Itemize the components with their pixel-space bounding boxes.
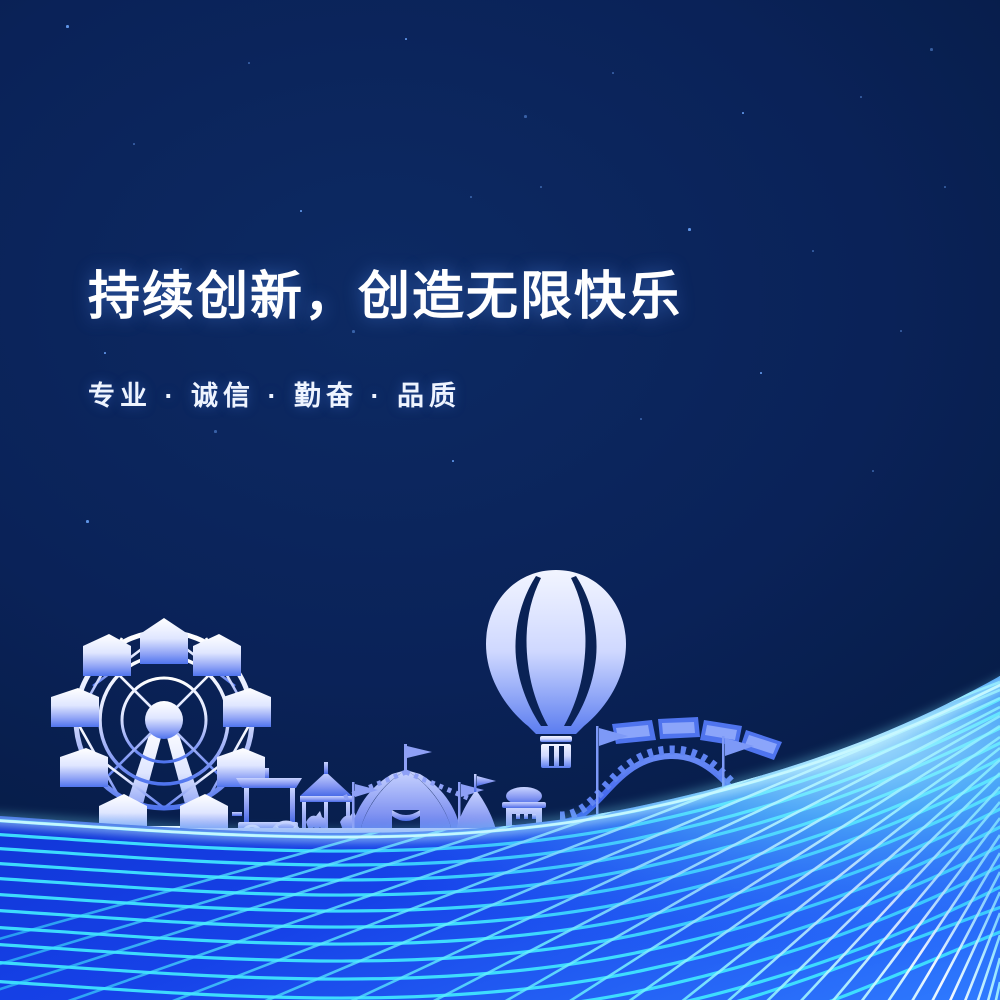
star-dot xyxy=(104,352,106,354)
star-dot xyxy=(860,96,862,98)
mesh-glow xyxy=(0,620,1000,1000)
star-dot xyxy=(133,143,135,145)
star-dot xyxy=(900,330,902,332)
star-dot xyxy=(214,430,217,433)
page-title: 持续创新，创造无限快乐 xyxy=(88,268,848,326)
star-dot xyxy=(944,186,946,188)
star-dot xyxy=(352,330,355,333)
star-dot xyxy=(612,72,614,74)
star-dot xyxy=(742,112,744,114)
star-dot xyxy=(300,210,302,212)
star-dot xyxy=(86,520,89,523)
star-dot xyxy=(640,418,642,420)
star-dot xyxy=(452,460,454,462)
star-dot xyxy=(405,38,407,40)
star-dot xyxy=(248,62,250,64)
star-dot xyxy=(524,115,527,118)
star-dot xyxy=(872,470,874,472)
star-dot xyxy=(470,196,472,198)
star-dot xyxy=(930,48,933,51)
star-dot xyxy=(688,228,691,231)
star-dot xyxy=(66,25,69,28)
page-subtitle: 专业 · 诚信 · 勤奋 · 品质 xyxy=(88,374,848,413)
glowing-wave-mesh xyxy=(0,620,1000,1000)
poster-canvas: 持续创新，创造无限快乐 专业 · 诚信 · 勤奋 · 品质 xyxy=(0,0,1000,1000)
star-dot xyxy=(812,250,814,252)
star-dot xyxy=(540,186,542,188)
